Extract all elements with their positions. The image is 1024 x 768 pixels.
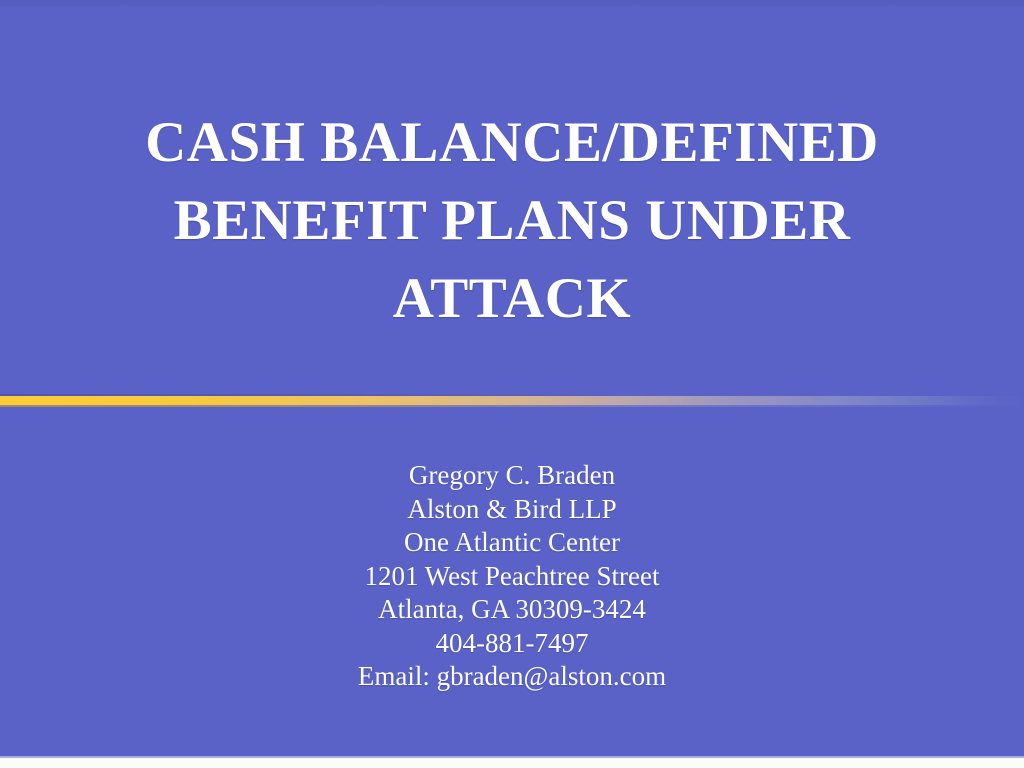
presenter-firm: Alston & Bird LLP (0, 493, 1024, 527)
presenter-name: Gregory C. Braden (0, 459, 1024, 493)
title-line-1: CASH BALANCE/DEFINED (0, 104, 1024, 182)
presenter-contact-block: Gregory C. Braden Alston & Bird LLP One … (0, 459, 1024, 694)
title-divider (0, 391, 1024, 409)
presenter-street: 1201 West Peachtree Street (0, 560, 1024, 594)
title-line-3: ATTACK (0, 260, 1024, 338)
divider-underline (0, 405, 1024, 407)
title-line-2: BENEFIT PLANS UNDER (0, 182, 1024, 260)
presenter-building: One Atlantic Center (0, 526, 1024, 560)
divider-gold-bar (0, 396, 1024, 405)
slide-title: CASH BALANCE/DEFINED BENEFIT PLANS UNDER… (0, 104, 1024, 338)
presenter-email: Email: gbraden@alston.com (0, 660, 1024, 694)
presenter-phone: 404-881-7497 (0, 627, 1024, 661)
slide-top-edge-band (0, 0, 1024, 7)
slide-bottom-strip (0, 758, 1024, 768)
title-slide: CASH BALANCE/DEFINED BENEFIT PLANS UNDER… (0, 0, 1024, 768)
presenter-city-state-zip: Atlanta, GA 30309-3424 (0, 593, 1024, 627)
